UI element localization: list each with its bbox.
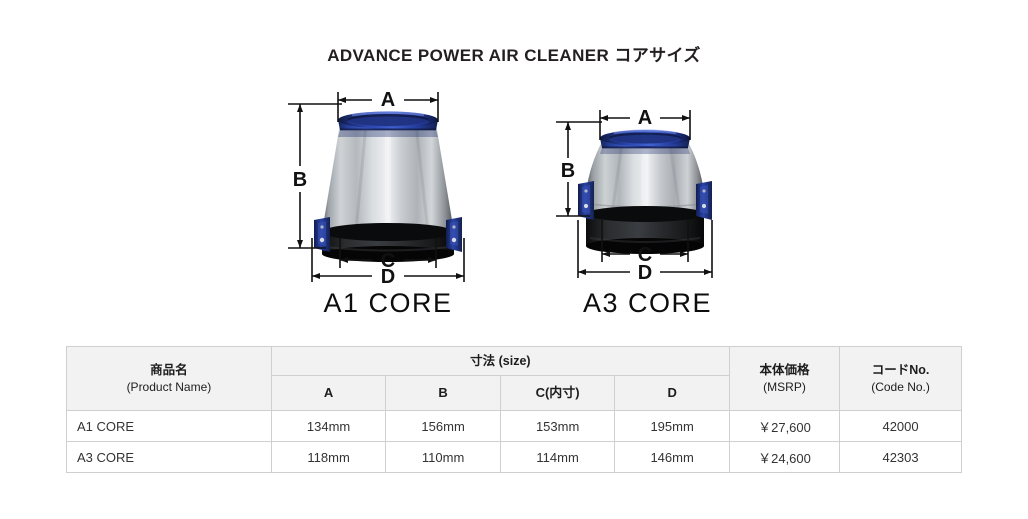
a3-label-a: A [638,107,652,129]
cell-dim-c: 153mm [500,411,615,442]
cell-product-name: A1 CORE [67,411,272,442]
header-code: コードNo. (Code No.) [840,347,962,411]
cell-dim-d: 195mm [615,411,730,442]
figure-a1-core: A B C D A1 CORE [268,80,508,330]
cell-dim-a: 118mm [271,442,386,473]
cell-dim-d: 146mm [615,442,730,473]
a1-label-d: D [381,266,395,288]
a3-core-caption: A3 CORE [540,288,755,319]
page-title: ADVANCE POWER AIR CLEANER コアサイズ [0,41,1028,66]
cell-product-name: A3 CORE [67,442,272,473]
cell-code: 42000 [840,411,962,442]
a3-clamp-left [578,181,594,220]
figure-a3-core: A B C D A3 CORE [540,80,755,330]
a1-label-a: A [381,89,395,111]
cell-dim-c: 114mm [500,442,615,473]
cell-price: ￥27,600 [729,411,839,442]
header-product-name-en: (Product Name) [67,379,271,396]
a1-label-b: B [293,169,307,191]
header-product-name-jp: 商品名 [67,361,271,379]
header-code-jp: コードNo. [840,361,961,379]
table-row: A1 CORE 134mm 156mm 153mm 195mm ￥27,600 … [67,411,962,442]
spec-table-head: 商品名 (Product Name) 寸法 (size) 本体価格 (MSRP)… [67,347,962,411]
cell-code: 42303 [840,442,962,473]
spec-table-body: A1 CORE 134mm 156mm 153mm 195mm ￥27,600 … [67,411,962,473]
header-price: 本体価格 (MSRP) [729,347,839,411]
a3-label-b: B [561,160,575,182]
a3-core-diagram: A B C D [540,80,755,295]
header-dim-c: C(内寸) [500,376,615,411]
table-row: A3 CORE 118mm 110mm 114mm 146mm ￥24,600 … [67,442,962,473]
header-product-name: 商品名 (Product Name) [67,347,272,411]
a1-clamp-left [314,217,330,252]
header-dim-b: B [386,376,501,411]
a3-core-product-image [578,130,712,254]
cell-dim-b: 156mm [386,411,501,442]
spec-table: 商品名 (Product Name) 寸法 (size) 本体価格 (MSRP)… [66,346,962,473]
cell-dim-a: 134mm [271,411,386,442]
header-code-en: (Code No.) [840,379,961,396]
a3-label-d: D [638,262,652,284]
product-figures: A B C D A1 CORE [0,80,1028,330]
header-row-top: 商品名 (Product Name) 寸法 (size) 本体価格 (MSRP)… [67,347,962,376]
header-price-jp: 本体価格 [730,361,839,379]
header-dim-d: D [615,376,730,411]
a1-core-diagram: A B C D [268,80,508,295]
a1-core-product-image [314,112,462,263]
header-dim-a: A [271,376,386,411]
cell-price: ￥24,600 [729,442,839,473]
cell-dim-b: 110mm [386,442,501,473]
header-size-group: 寸法 (size) [271,347,729,376]
header-price-en: (MSRP) [730,379,839,396]
a1-clamp-right [446,217,462,252]
a1-core-caption: A1 CORE [268,288,508,319]
a3-clamp-right [696,181,712,220]
spec-table-container: 商品名 (Product Name) 寸法 (size) 本体価格 (MSRP)… [66,346,962,473]
